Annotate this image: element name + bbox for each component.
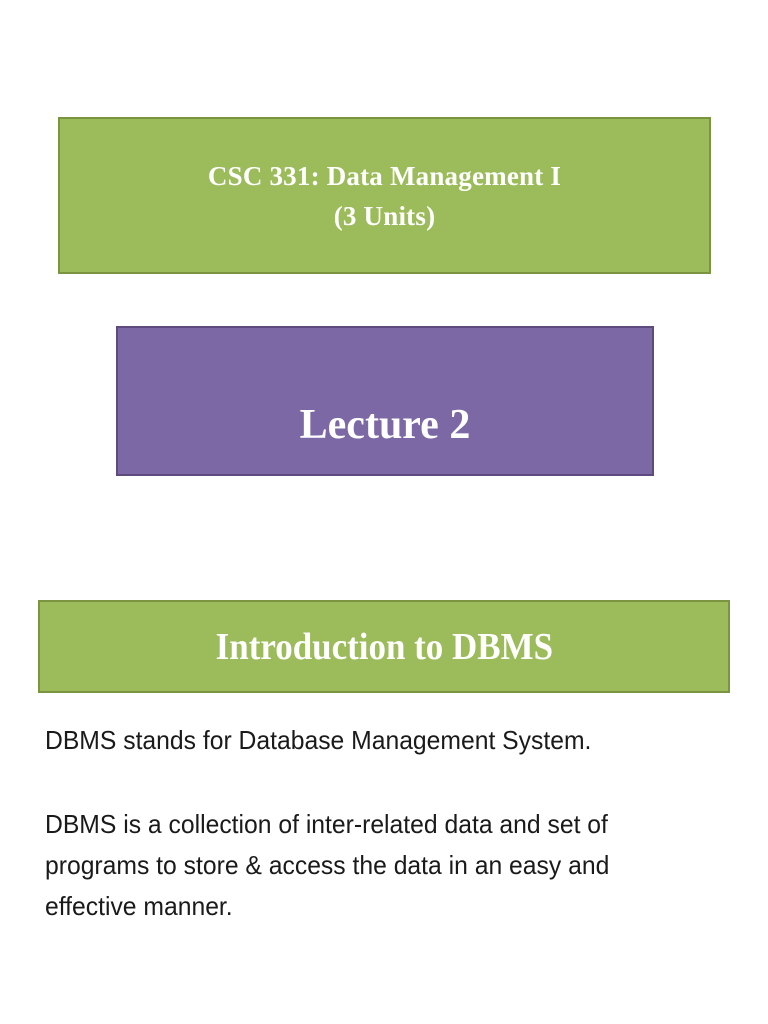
body-paragraph-description: DBMS is a collection of inter-related da… (45, 804, 701, 927)
lecture-number-label: Lecture 2 (300, 402, 471, 448)
course-title-line-1: CSC 331: Data Management I (208, 156, 561, 196)
body-paragraph-definition: DBMS stands for Database Management Syst… (45, 720, 701, 761)
presentation-slide: CSC 331: Data Management I (3 Units) Lec… (0, 0, 768, 1024)
course-title-box: CSC 331: Data Management I (3 Units) (58, 117, 711, 274)
body-copy: DBMS stands for Database Management Syst… (45, 720, 735, 927)
section-heading-label: Introduction to DBMS (215, 625, 552, 669)
section-heading-banner: Introduction to DBMS (38, 600, 730, 693)
course-title-line-2: (3 Units) (334, 196, 436, 236)
lecture-number-box: Lecture 2 (116, 326, 654, 476)
